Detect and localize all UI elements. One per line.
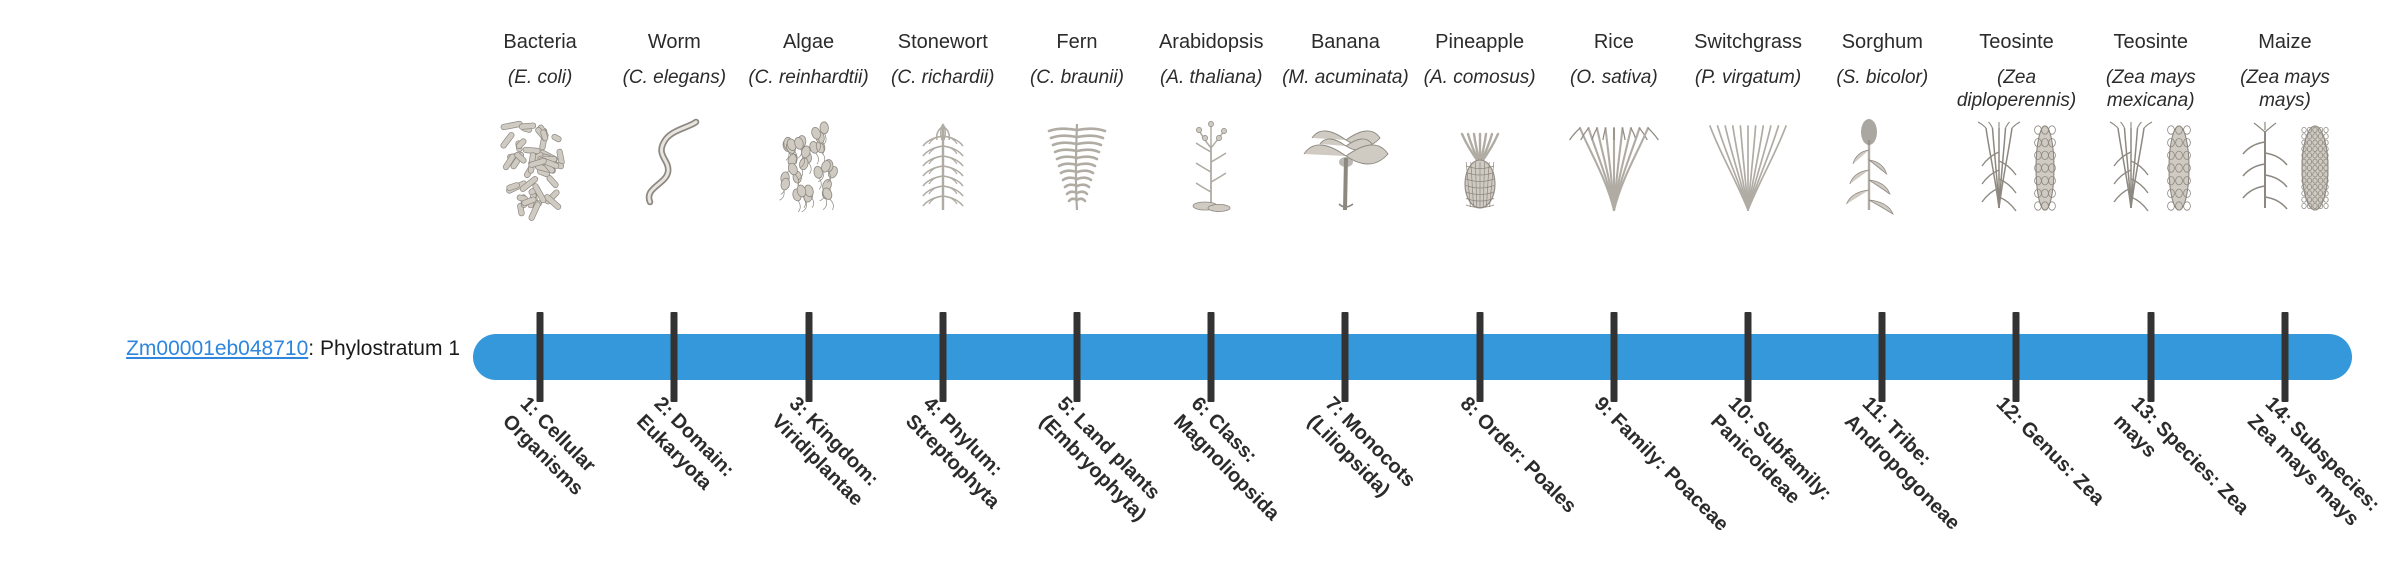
species-common-name: Sorghum [1842, 30, 1923, 56]
species-column: Stonewort(C. richardii) [876, 30, 1010, 310]
species-column: Sorghum(S. bicolor) [1815, 30, 1949, 310]
stratum-name: Land plants (Embryophyta) [1035, 409, 1164, 526]
stratum-label[interactable]: 8: Order: Poales [1454, 392, 1606, 544]
species-common-name: Worm [648, 30, 701, 56]
species-column: Arabidopsis(A. thaliana) [1144, 30, 1278, 310]
species-common-name: Maize [2258, 30, 2311, 56]
species-common-name: Stonewort [898, 30, 988, 56]
timeline-tick [2013, 312, 2020, 402]
timeline-tick [1208, 312, 1215, 402]
timeline-tick [2281, 312, 2288, 402]
species-column: Switchgrass(P. virgatum) [1681, 30, 1815, 310]
species-column: Bacteria(E. coli) [473, 30, 607, 310]
bacteria-rods-icon [475, 118, 605, 210]
species-common-name: Rice [1594, 30, 1634, 56]
species-scientific-name: (A. comosus) [1413, 66, 1547, 114]
algae-cells-icon [744, 118, 874, 210]
timeline-tick [939, 312, 946, 402]
species-scientific-name: (C. braunii) [1010, 66, 1144, 114]
stratum-name: Monocots (Liliopsida) [1303, 409, 1420, 501]
species-column: Maize(Zea mays mays) [2218, 30, 2352, 310]
phylostratum-timeline [473, 334, 2352, 380]
timeline-tick [1073, 312, 1080, 402]
species-column: Algae(C. reinhardtii) [741, 30, 875, 310]
stonewort-whorl-icon [878, 118, 1008, 210]
species-scientific-name: (O. sativa) [1547, 66, 1681, 114]
gene-phylostratum-label: Zm00001eb048710: Phylostratum 1 [40, 336, 460, 362]
species-scientific-name: (S. bicolor) [1815, 66, 1949, 114]
timeline-tick [1342, 312, 1349, 402]
species-column: Pineapple(A. comosus) [1413, 30, 1547, 310]
stratum-name: Phylum: Streptophyta [901, 409, 1007, 513]
stratum-name: Cellular Organisms [498, 409, 600, 500]
pineapple-fruit-icon [1415, 118, 1545, 210]
species-common-name: Switchgrass [1694, 30, 1802, 56]
species-column: Rice(O. sativa) [1547, 30, 1681, 310]
stratum-name: Kingdom: Viridiplantae [767, 409, 883, 510]
species-common-name: Teosinte [2113, 30, 2188, 56]
species-scientific-name: (Zea mays mays) [2218, 66, 2352, 114]
species-common-name: Teosinte [1979, 30, 2054, 56]
stratum-label[interactable]: 7: Monocots (Liliopsida) [1302, 392, 1472, 562]
species-column: Teosinte(Zea mays mexicana) [2084, 30, 2218, 310]
species-common-name: Algae [783, 30, 834, 56]
timeline-tick [1476, 312, 1483, 402]
stratum-name: Order: Poales [1472, 409, 1580, 517]
species-common-name: Banana [1311, 30, 1380, 56]
species-scientific-name: (Zea diploperennis) [1949, 66, 2083, 114]
species-scientific-name: (E. coli) [473, 66, 607, 114]
species-scientific-name: (C. reinhardtii) [741, 66, 875, 114]
rice-plant-icon [1549, 118, 1679, 210]
gene-label-separator: : [308, 337, 320, 360]
stratum-name: Class: Magnoliopsida [1169, 409, 1284, 525]
phylostratum-figure: Zm00001eb048710: Phylostratum 1 Bacteria… [0, 0, 2400, 580]
banana-palm-icon [1280, 118, 1410, 210]
species-scientific-name: (M. acuminata) [1278, 66, 1412, 114]
species-common-name: Pineapple [1435, 30, 1524, 56]
sorghum-panicle-icon [1817, 118, 1947, 210]
species-common-name: Arabidopsis [1159, 30, 1264, 56]
nematode-worm-icon [609, 118, 739, 210]
species-common-name: Fern [1056, 30, 1097, 56]
timeline-tick [2147, 312, 2154, 402]
fern-frond-icon [1012, 118, 1142, 210]
stratum-number: 12: [1992, 393, 2028, 429]
stratum-name: Domain: Eukaryota [632, 409, 738, 494]
timeline-bar[interactable] [473, 334, 2352, 380]
species-column: Fern(C. braunii) [1010, 30, 1144, 310]
species-column: Worm(C. elegans) [607, 30, 741, 310]
timeline-tick [671, 312, 678, 402]
timeline-tick [537, 312, 544, 402]
species-scientific-name: (C. elegans) [607, 66, 741, 114]
teosinte-diploperennis-icon [1952, 118, 2082, 210]
species-column: Teosinte(Zea diploperennis) [1949, 30, 2083, 310]
timeline-tick [1879, 312, 1886, 402]
species-scientific-name: (Zea mays mexicana) [2084, 66, 2218, 114]
timeline-tick [1610, 312, 1617, 402]
teosinte-mexicana-icon [2086, 118, 2216, 210]
arabidopsis-rosette-icon [1146, 118, 1276, 210]
species-common-name: Bacteria [503, 30, 576, 56]
stratum-name: Genus: Zea [2017, 417, 2110, 510]
phylostratum-value: Phylostratum 1 [320, 337, 460, 360]
stratum-label-row: 1: Cellular Organisms2: Domain: Eukaryot… [473, 392, 2352, 580]
switchgrass-clump-icon [1683, 118, 1813, 210]
stratum-name: Subfamily: Panicoideae [1706, 410, 1836, 508]
gene-id-link[interactable]: Zm00001eb048710 [126, 337, 308, 360]
species-scientific-name: (A. thaliana) [1144, 66, 1278, 114]
stratum-name: Species: Zea mays [2109, 410, 2253, 519]
maize-ear-icon [2220, 118, 2350, 210]
species-scientific-name: (C. richardii) [876, 66, 1010, 114]
timeline-tick [805, 312, 812, 402]
timeline-tick [1745, 312, 1752, 402]
species-scientific-name: (P. virgatum) [1681, 66, 1815, 114]
species-header-row: Bacteria(E. coli)Worm(C. elegans)Algae(C… [473, 30, 2352, 310]
species-column: Banana(M. acuminata) [1278, 30, 1412, 310]
